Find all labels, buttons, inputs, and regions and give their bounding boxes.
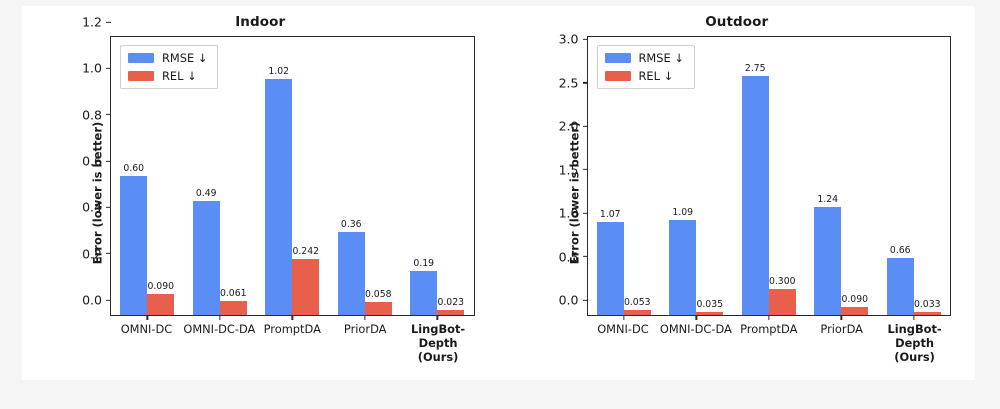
bar-value-label: 0.49 <box>196 188 217 199</box>
x-tick-label: OMNI-DC <box>587 320 660 364</box>
y-tick-label: 0.0 <box>559 293 588 308</box>
rmse-swatch-icon <box>128 53 154 63</box>
bar-value-label: 0.242 <box>292 246 319 257</box>
bar: 0.061 <box>220 301 247 315</box>
bar: 0.090 <box>841 307 868 315</box>
x-tick-label-line: PromptDA <box>732 322 805 336</box>
panel-title-outdoor: Outdoor <box>499 14 976 30</box>
x-tick-label-line: PriorDA <box>329 322 402 336</box>
bar: 0.090 <box>147 294 174 315</box>
bar-value-label: 0.090 <box>147 281 174 292</box>
rel-swatch-icon <box>128 71 154 81</box>
x-tick-label: PromptDA <box>732 320 805 364</box>
bar-value-label: 0.035 <box>696 299 723 310</box>
x-tick-label: OMNI-DC-DA <box>183 320 256 364</box>
bar-group: 0.190.023 <box>401 37 474 315</box>
y-tick-label: 0.8 <box>82 107 111 122</box>
bar: 0.300 <box>769 289 796 315</box>
y-tick-label: 0.0 <box>82 293 111 308</box>
y-tick-label: 2.0 <box>559 119 588 134</box>
bar: 1.24 <box>814 207 841 315</box>
legend-label-rel: REL ↓ <box>639 69 674 83</box>
bar: 0.035 <box>696 312 723 315</box>
bar-value-label: 0.061 <box>220 288 247 299</box>
panel-outdoor: Outdoor Error (lower is better) RMSE ↓ R… <box>499 6 976 380</box>
bar-group: 0.360.058 <box>329 37 402 315</box>
y-tick-label: 3.0 <box>559 32 588 47</box>
x-tick-label-line: OMNI-DC <box>110 322 183 336</box>
x-tick-labels-indoor: OMNI-DCOMNI-DC-DAPromptDAPriorDALingBot-… <box>110 320 475 364</box>
x-tick-label-line: PromptDA <box>256 322 329 336</box>
y-tick-label: 2.5 <box>559 75 588 90</box>
x-tick-label-line: (Ours) <box>878 350 951 364</box>
x-tick-labels-outdoor: OMNI-DCOMNI-DC-DAPromptDAPriorDALingBot-… <box>587 320 952 364</box>
x-tick-label-line: OMNI-DC-DA <box>659 322 732 336</box>
y-tick-label: 0.4 <box>82 200 111 215</box>
bar: 2.75 <box>742 76 769 315</box>
bar: 0.058 <box>365 302 392 315</box>
bar-value-label: 0.058 <box>365 289 392 300</box>
legend-label-rel: REL ↓ <box>162 69 197 83</box>
figure-canvas: Indoor Error (lower is better) RMSE ↓ RE… <box>22 6 975 380</box>
x-tick-label-line: (Ours) <box>402 350 475 364</box>
bar: 0.053 <box>624 310 651 315</box>
legend-entry-rmse: RMSE ↓ <box>605 51 684 65</box>
x-tick-label: OMNI-DC <box>110 320 183 364</box>
bar-value-label: 1.24 <box>817 194 838 205</box>
y-tick-label: 1.5 <box>559 162 588 177</box>
legend-label-rmse: RMSE ↓ <box>162 51 207 65</box>
bar-value-label: 2.75 <box>745 63 766 74</box>
legend-label-rmse: RMSE ↓ <box>639 51 684 65</box>
bar-group: 0.660.033 <box>878 37 951 315</box>
y-tick-label: 0.5 <box>559 249 588 264</box>
y-tick-label: 0.2 <box>82 246 111 261</box>
bar: 0.19 <box>410 271 437 315</box>
bar: 0.033 <box>914 312 941 315</box>
bar: 0.60 <box>120 176 147 315</box>
bar-group: 1.240.090 <box>805 37 878 315</box>
x-tick-label-line: LingBot-Depth <box>878 322 951 350</box>
legend-indoor: RMSE ↓ REL ↓ <box>120 45 218 89</box>
x-tick-label: LingBot-Depth(Ours) <box>878 320 951 364</box>
panel-container: Indoor Error (lower is better) RMSE ↓ RE… <box>22 6 975 380</box>
chart-figure-root: Indoor Error (lower is better) RMSE ↓ RE… <box>0 0 1000 409</box>
axes-indoor: RMSE ↓ REL ↓ 0.00.20.40.60.81.01.2 0.600… <box>110 36 475 316</box>
bar: 1.09 <box>669 220 696 315</box>
bar-value-label: 0.36 <box>341 219 362 230</box>
bar-value-label: 1.09 <box>672 207 693 218</box>
y-tick-label: 1.2 <box>82 15 111 30</box>
bar-group: 2.750.300 <box>733 37 806 315</box>
bar-group: 1.020.242 <box>256 37 329 315</box>
bar-value-label: 1.02 <box>268 66 289 77</box>
x-tick-label: PromptDA <box>256 320 329 364</box>
bar-value-label: 0.090 <box>841 294 868 305</box>
x-tick-label: LingBot-Depth(Ours) <box>402 320 475 364</box>
legend-entry-rel: REL ↓ <box>605 69 684 83</box>
x-tick-label-line: OMNI-DC <box>587 322 660 336</box>
legend-entry-rel: REL ↓ <box>128 69 207 83</box>
axes-outdoor: RMSE ↓ REL ↓ 0.00.51.01.52.02.53.0 1.070… <box>587 36 952 316</box>
y-axis-label-outdoor: Error (lower is better) <box>567 122 581 265</box>
rmse-swatch-icon <box>605 53 631 63</box>
legend-outdoor: RMSE ↓ REL ↓ <box>597 45 695 89</box>
x-tick-label-line: PriorDA <box>805 322 878 336</box>
legend-entry-rmse: RMSE ↓ <box>128 51 207 65</box>
bar: 1.02 <box>265 79 292 315</box>
x-tick-label-line: LingBot-Depth <box>402 322 475 350</box>
bar-value-label: 0.19 <box>413 258 434 269</box>
bar: 0.49 <box>193 201 220 315</box>
y-tick-label: 0.6 <box>82 154 111 169</box>
bar-value-label: 0.66 <box>890 245 911 256</box>
x-tick-label: PriorDA <box>329 320 402 364</box>
y-tick-label: 1.0 <box>559 206 588 221</box>
x-tick-label-line: OMNI-DC-DA <box>183 322 256 336</box>
bar-value-label: 0.033 <box>914 299 941 310</box>
bar: 1.07 <box>597 222 624 315</box>
bar: 0.66 <box>887 258 914 315</box>
y-axis-label-indoor: Error (lower is better) <box>90 122 104 265</box>
rel-swatch-icon <box>605 71 631 81</box>
bar-value-label: 0.023 <box>437 297 464 308</box>
bar: 0.36 <box>338 232 365 315</box>
bar-value-label: 1.07 <box>600 209 621 220</box>
x-tick-label: OMNI-DC-DA <box>659 320 732 364</box>
bar: 0.242 <box>292 259 319 315</box>
bar-value-label: 0.053 <box>624 297 651 308</box>
bar-value-label: 0.300 <box>769 276 796 287</box>
x-tick-label: PriorDA <box>805 320 878 364</box>
panel-indoor: Indoor Error (lower is better) RMSE ↓ RE… <box>22 6 499 380</box>
bar: 0.023 <box>437 310 464 315</box>
bar-value-label: 0.60 <box>123 163 144 174</box>
y-tick-label: 1.0 <box>82 61 111 76</box>
